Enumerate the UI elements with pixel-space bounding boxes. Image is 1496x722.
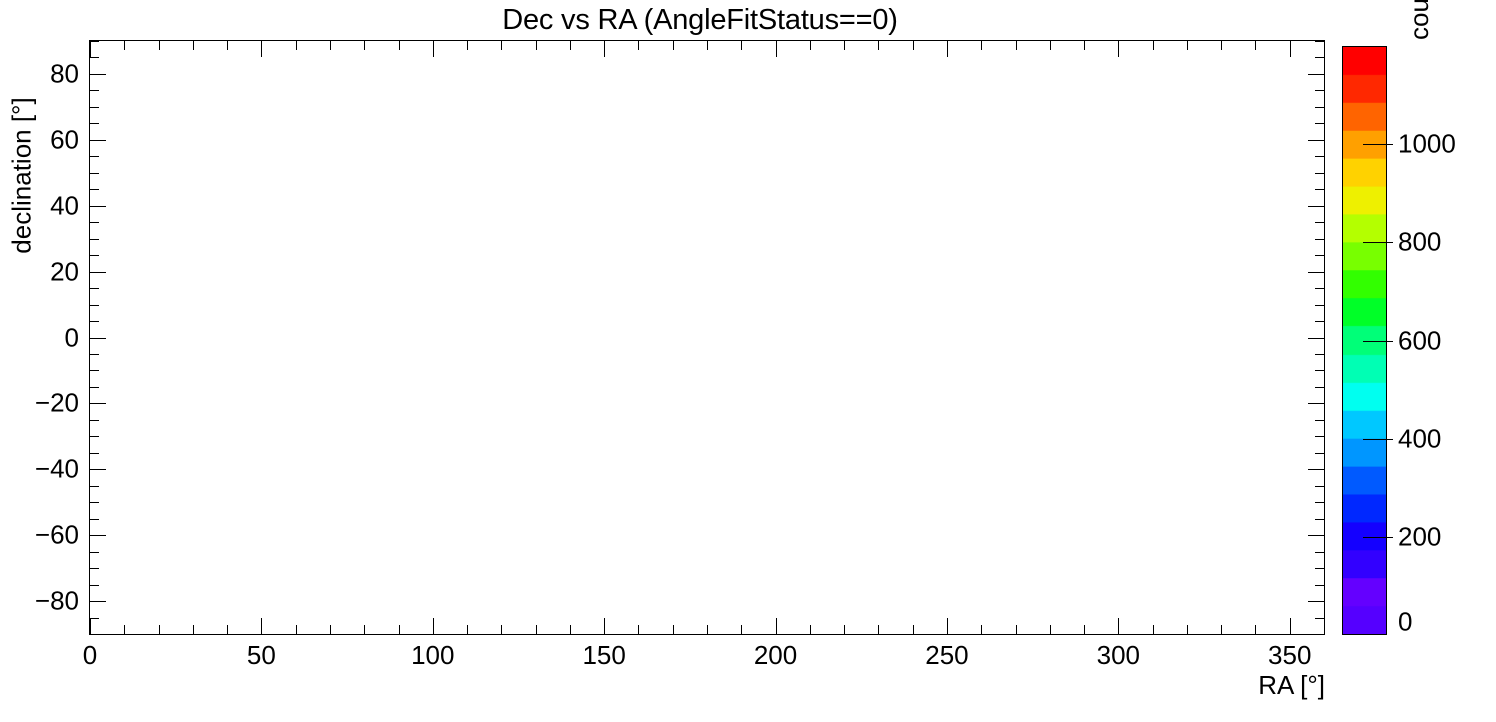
y-tick — [90, 123, 99, 124]
x-tick-top — [741, 41, 742, 50]
y-tick-right — [1308, 601, 1324, 602]
y-tick-label: −20 — [0, 388, 79, 419]
x-tick — [124, 625, 125, 634]
y-tick — [90, 486, 99, 487]
y-tick — [90, 140, 106, 141]
y-tick — [90, 453, 99, 454]
x-tick — [1187, 625, 1188, 634]
x-tick-top — [1290, 41, 1291, 57]
y-tick-right — [1308, 272, 1324, 273]
y-tick-label: −80 — [0, 586, 79, 617]
x-tick-top — [947, 41, 948, 57]
x-tick — [1221, 625, 1222, 634]
y-tick — [90, 305, 99, 306]
x-tick — [193, 625, 194, 634]
x-tick — [570, 625, 571, 634]
page-title: Dec vs RA (AngleFitStatus==0) — [0, 4, 1400, 37]
x-tick-top — [536, 41, 537, 50]
x-tick-top — [227, 41, 228, 50]
y-tick — [90, 156, 99, 157]
y-axis-title: declination [°] — [7, 76, 38, 276]
y-tick-right — [1315, 618, 1324, 619]
y-tick-right — [1315, 420, 1324, 421]
x-tick — [1324, 625, 1325, 634]
y-tick — [90, 370, 99, 371]
color-bar-tick — [1363, 144, 1393, 145]
y-tick — [90, 272, 106, 273]
x-tick — [878, 625, 879, 634]
x-tick — [810, 625, 811, 634]
y-tick — [90, 321, 99, 322]
y-tick-right — [1308, 535, 1324, 536]
x-tick-top — [707, 41, 708, 50]
y-tick-right — [1315, 222, 1324, 223]
x-tick-top — [193, 41, 194, 50]
x-tick — [90, 618, 91, 634]
color-bar-tick — [1363, 439, 1393, 440]
x-tick — [364, 625, 365, 634]
x-tick-top — [1187, 41, 1188, 50]
x-tick — [741, 625, 742, 634]
x-tick-top — [501, 41, 502, 50]
x-tick-top — [1118, 41, 1119, 57]
y-tick — [90, 420, 99, 421]
x-tick — [776, 618, 777, 634]
y-tick — [90, 436, 99, 437]
y-tick — [90, 222, 99, 223]
y-tick-label: 0 — [0, 322, 79, 353]
x-tick-label: 350 — [1268, 640, 1311, 671]
x-tick-top — [124, 41, 125, 50]
x-tick-top — [878, 41, 879, 50]
x-tick-top — [467, 41, 468, 50]
y-tick-right — [1315, 90, 1324, 91]
y-tick — [90, 90, 99, 91]
x-tick — [673, 625, 674, 634]
x-tick-top — [296, 41, 297, 50]
x-tick-top — [399, 41, 400, 50]
color-bar-tick — [1363, 537, 1393, 538]
y-tick-right — [1308, 338, 1324, 339]
x-tick-label: 100 — [411, 640, 454, 671]
x-tick — [913, 625, 914, 634]
x-tick — [981, 625, 982, 634]
x-tick-top — [981, 41, 982, 50]
y-tick — [90, 403, 106, 404]
x-tick — [1016, 625, 1017, 634]
y-tick — [90, 535, 106, 536]
x-tick-top — [364, 41, 365, 50]
x-tick-top — [330, 41, 331, 50]
y-tick-right — [1315, 585, 1324, 586]
y-tick — [90, 41, 99, 42]
x-tick — [1118, 618, 1119, 634]
y-tick-right — [1315, 354, 1324, 355]
x-tick-top — [1050, 41, 1051, 50]
x-tick-top — [1084, 41, 1085, 50]
root-plot-canvas: Dec vs RA (AngleFitStatus==0) 0501001502… — [0, 0, 1496, 722]
x-tick — [296, 625, 297, 634]
x-tick — [467, 625, 468, 634]
y-tick-right — [1315, 189, 1324, 190]
x-tick — [536, 625, 537, 634]
x-tick-top — [776, 41, 777, 57]
x-tick-label: 250 — [925, 640, 968, 671]
y-tick-right — [1315, 436, 1324, 437]
y-tick-right — [1315, 41, 1324, 42]
x-tick — [947, 618, 948, 634]
y-tick-right — [1315, 502, 1324, 503]
plot-frame — [89, 40, 1325, 635]
x-tick — [707, 625, 708, 634]
y-tick — [90, 354, 99, 355]
color-bar-tick-label: 400 — [1398, 424, 1441, 455]
x-tick — [1290, 618, 1291, 634]
x-tick-top — [673, 41, 674, 50]
x-axis-title: RA [°] — [1258, 670, 1325, 701]
y-tick — [90, 206, 106, 207]
x-tick — [1084, 625, 1085, 634]
y-tick — [90, 338, 106, 339]
y-tick-label: −60 — [0, 520, 79, 551]
y-tick — [90, 189, 99, 190]
y-tick-right — [1315, 156, 1324, 157]
x-tick-top — [261, 41, 262, 57]
x-tick-top — [570, 41, 571, 50]
x-tick — [1050, 625, 1051, 634]
x-tick — [399, 625, 400, 634]
y-tick-right — [1315, 486, 1324, 487]
y-tick — [90, 469, 106, 470]
x-tick — [227, 625, 228, 634]
y-tick-right — [1315, 288, 1324, 289]
y-tick-right — [1315, 107, 1324, 108]
x-tick — [433, 618, 434, 634]
y-tick-right — [1315, 370, 1324, 371]
y-tick — [90, 618, 99, 619]
x-tick-top — [1324, 41, 1325, 50]
y-tick — [90, 387, 99, 388]
y-tick-right — [1315, 453, 1324, 454]
y-tick — [90, 255, 99, 256]
y-tick-right — [1315, 568, 1324, 569]
x-tick — [159, 625, 160, 634]
y-tick-right — [1315, 552, 1324, 553]
y-tick — [90, 288, 99, 289]
color-bar-title: count — [1404, 0, 1435, 40]
x-tick — [1255, 625, 1256, 634]
y-tick-right — [1308, 74, 1324, 75]
color-bar-tick-label: 0 — [1398, 607, 1412, 638]
color-bar-tick-label: 200 — [1398, 522, 1441, 553]
x-tick-label: 150 — [582, 640, 625, 671]
color-bar-tick — [1363, 242, 1393, 243]
y-tick-right — [1315, 321, 1324, 322]
x-tick — [501, 625, 502, 634]
x-tick-top — [433, 41, 434, 57]
y-tick — [90, 585, 99, 586]
x-tick — [1153, 625, 1154, 634]
y-tick-right — [1308, 469, 1324, 470]
x-tick-top — [913, 41, 914, 50]
y-tick-right — [1315, 519, 1324, 520]
y-tick-right — [1315, 57, 1324, 58]
y-tick — [90, 239, 99, 240]
y-tick-right — [1315, 255, 1324, 256]
x-tick-top — [90, 41, 91, 57]
y-tick-right — [1315, 173, 1324, 174]
x-tick — [844, 625, 845, 634]
x-tick-top — [604, 41, 605, 57]
x-tick-top — [638, 41, 639, 50]
y-tick-right — [1308, 206, 1324, 207]
y-tick-right — [1308, 403, 1324, 404]
y-tick — [90, 568, 99, 569]
x-tick-top — [1016, 41, 1017, 50]
y-tick-right — [1315, 239, 1324, 240]
y-tick-right — [1315, 305, 1324, 306]
color-bar-tick-label: 800 — [1398, 227, 1441, 258]
x-tick-top — [810, 41, 811, 50]
color-bar-tick-label: 600 — [1398, 326, 1441, 357]
y-tick — [90, 601, 106, 602]
y-tick-right — [1315, 387, 1324, 388]
x-tick-top — [1221, 41, 1222, 50]
y-tick — [90, 57, 99, 58]
x-tick — [330, 625, 331, 634]
y-tick — [90, 74, 106, 75]
x-tick-top — [1153, 41, 1154, 50]
color-bar-tick-label: 1000 — [1398, 129, 1456, 160]
y-tick — [90, 173, 99, 174]
y-tick — [90, 107, 99, 108]
y-tick — [90, 502, 99, 503]
y-tick-right — [1308, 140, 1324, 141]
x-tick-label: 200 — [754, 640, 797, 671]
y-tick — [90, 552, 99, 553]
y-tick-right — [1315, 123, 1324, 124]
x-tick — [261, 618, 262, 634]
x-tick — [604, 618, 605, 634]
y-tick-label: −40 — [0, 454, 79, 485]
x-tick-label: 300 — [1097, 640, 1140, 671]
y-tick — [90, 519, 99, 520]
x-tick-top — [159, 41, 160, 50]
x-tick — [638, 625, 639, 634]
x-tick-label: 0 — [83, 640, 97, 671]
color-bar-tick — [1363, 341, 1393, 342]
x-tick-top — [1255, 41, 1256, 50]
x-tick-top — [844, 41, 845, 50]
x-tick-label: 50 — [247, 640, 276, 671]
